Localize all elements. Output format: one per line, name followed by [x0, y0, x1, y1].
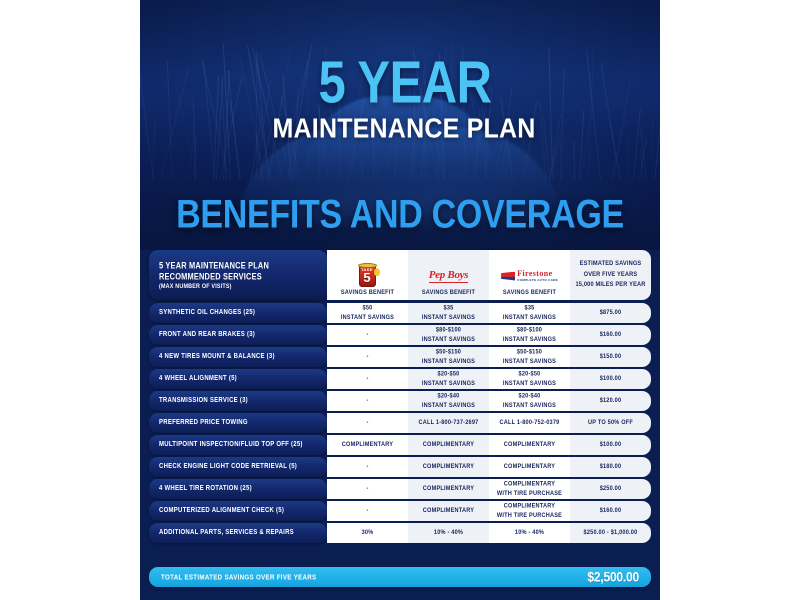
row-cell-estimated: $250.00 [570, 479, 651, 499]
table-row: FRONT AND REAR BRAKES (3)-$80-$100INSTAN… [149, 325, 651, 345]
row-service-text: SYNTHETIC OIL CHANGES (25) [159, 309, 255, 316]
header-estimated-line3: 15,000 MILES PER YEAR [575, 279, 645, 292]
row-cell-text: $50INSTANT SAVINGS [341, 303, 394, 322]
table-header-row: 5 YEAR MAINTENANCE PLAN RECOMMENDED SERV… [149, 250, 651, 300]
row-cell-estimated: $100.00 [570, 435, 651, 455]
row-cell-text: - [366, 352, 368, 362]
row-service-text: FRONT AND REAR BRAKES (3) [159, 331, 255, 338]
row-service-text: TRANSMISSION SERVICE (3) [159, 397, 248, 404]
row-cell-firestone: CALL 1-800-752-0379 [489, 413, 570, 433]
header-brand-pepboys: Pep Boys SAVINGS BENEFIT [408, 250, 489, 300]
table-row: PREFERRED PRICE TOWING-CALL 1-800-737-26… [149, 413, 651, 433]
row-cell-text: $160.00 [600, 330, 622, 340]
row-cell-take5: COMPLIMENTARY [327, 435, 408, 455]
row-cell-estimated: $160.00 [570, 501, 651, 521]
row-cell-text: - [366, 418, 368, 428]
header-estimated-savings-column: ESTIMATED SAVINGS OVER FIVE YEARS 15,000… [570, 250, 651, 300]
page-title: 5 YEAR [140, 56, 660, 111]
row-cell-text: $35INSTANT SAVINGS [422, 303, 475, 322]
table-row: 4 WHEEL ALIGNMENT (5)-$20-$50INSTANT SAV… [149, 369, 651, 389]
header-service-column: 5 YEAR MAINTENANCE PLAN RECOMMENDED SERV… [149, 250, 327, 300]
row-cell-pepboys: COMPLIMENTARY [408, 479, 489, 499]
row-cell-text: $875.00 [600, 308, 622, 318]
row-cell-firestone: $20-$40INSTANT SAVINGS [489, 391, 570, 411]
row-cell-take5: - [327, 325, 408, 345]
row-cell-text: - [366, 462, 368, 472]
row-cell-estimated: $180.00 [570, 457, 651, 477]
row-cell-pepboys: COMPLIMENTARY [408, 435, 489, 455]
row-cell-take5: $50INSTANT SAVINGS [327, 303, 408, 323]
row-service-label: COMPUTERIZED ALIGNMENT CHECK (5) [149, 501, 327, 521]
row-cell-take5: - [327, 413, 408, 433]
row-cell-text: $120.00 [600, 396, 622, 406]
row-cell-text: $20-$40INSTANT SAVINGS [503, 391, 556, 410]
row-cell-pepboys: $20-$40INSTANT SAVINGS [408, 391, 489, 411]
row-cell-text: - [366, 374, 368, 384]
row-cell-firestone: COMPLIMENTARY [489, 457, 570, 477]
table-row: 4 NEW TIRES MOUNT & BALANCE (3)-$50-$150… [149, 347, 651, 367]
row-cell-text: 10% - 40% [515, 528, 544, 538]
pep-boys-logo: Pep Boys [429, 262, 468, 290]
row-cell-text: COMPLIMENTARYWITH TIRE PURCHASE [497, 479, 562, 498]
total-savings-bar: TOTAL ESTIMATED SAVINGS OVER FIVE YEARS … [149, 567, 651, 587]
row-cell-text: - [366, 330, 368, 340]
row-cell-text: - [366, 484, 368, 494]
row-cell-text: $100.00 [600, 440, 622, 450]
table-row: SYNTHETIC OIL CHANGES (25)$50INSTANT SAV… [149, 303, 651, 323]
row-cell-firestone: COMPLIMENTARYWITH TIRE PURCHASE [489, 479, 570, 499]
row-cell-text: $35INSTANT SAVINGS [503, 303, 556, 322]
row-cell-pepboys: $50-$150INSTANT SAVINGS [408, 347, 489, 367]
section-title: BENEFITS AND COVERAGE [140, 195, 660, 234]
row-cell-firestone: $20-$50INSTANT SAVINGS [489, 369, 570, 389]
benefits-table: 5 YEAR MAINTENANCE PLAN RECOMMENDED SERV… [149, 250, 651, 545]
row-cell-pepboys: $35INSTANT SAVINGS [408, 303, 489, 323]
row-cell-text: $80-$100INSTANT SAVINGS [503, 325, 556, 344]
row-cell-text: - [366, 396, 368, 406]
row-service-text: ADDITIONAL PARTS, SERVICES & REPAIRS [159, 529, 294, 536]
row-cell-firestone: COMPLIMENTARYWITH TIRE PURCHASE [489, 501, 570, 521]
row-cell-estimated: $120.00 [570, 391, 651, 411]
row-cell-text: COMPLIMENTARY [423, 506, 474, 516]
row-cell-pepboys: COMPLIMENTARY [408, 501, 489, 521]
row-cell-text: - [366, 506, 368, 516]
row-cell-text: $20-$40INSTANT SAVINGS [422, 391, 475, 410]
row-cell-text: COMPLIMENTARY [342, 440, 393, 450]
row-cell-pepboys: $80-$100INSTANT SAVINGS [408, 325, 489, 345]
row-cell-take5: 30% [327, 523, 408, 543]
table-body: SYNTHETIC OIL CHANGES (25)$50INSTANT SAV… [149, 303, 651, 543]
row-cell-text: $50-$150INSTANT SAVINGS [503, 347, 556, 366]
row-cell-pepboys: CALL 1-800-737-2697 [408, 413, 489, 433]
table-row: TRANSMISSION SERVICE (3)-$20-$40INSTANT … [149, 391, 651, 411]
total-savings-label: TOTAL ESTIMATED SAVINGS OVER FIVE YEARS [161, 573, 316, 581]
row-cell-take5: - [327, 369, 408, 389]
take5-savings-label: SAVINGS BENEFIT [341, 289, 394, 296]
row-cell-take5: - [327, 391, 408, 411]
row-service-text: 4 NEW TIRES MOUNT & BALANCE (3) [159, 353, 275, 360]
row-cell-text: 30% [362, 528, 374, 538]
row-cell-text: COMPLIMENTARY [504, 440, 555, 450]
table-row: CHECK ENGINE LIGHT CODE RETRIEVAL (5)-CO… [149, 457, 651, 477]
row-service-text: MULTIPOINT INSPECTION/FLUID TOP OFF (25) [159, 441, 303, 448]
row-cell-firestone: 10% - 40% [489, 523, 570, 543]
row-cell-text: UP TO 50% OFF [588, 418, 633, 428]
row-cell-estimated: $100.00 [570, 369, 651, 389]
header-service-line2: RECOMMENDED SERVICES [159, 271, 327, 282]
row-cell-text: COMPLIMENTARY [423, 484, 474, 494]
row-cell-text: $50-$150INSTANT SAVINGS [422, 347, 475, 366]
row-cell-estimated: $160.00 [570, 325, 651, 345]
row-cell-text: COMPLIMENTARY [423, 440, 474, 450]
maintenance-plan-poster: 5 YEAR MAINTENANCE PLAN BENEFITS AND COV… [140, 0, 660, 600]
row-service-label: SYNTHETIC OIL CHANGES (25) [149, 303, 327, 323]
row-service-label: 4 WHEEL TIRE ROTATION (25) [149, 479, 327, 499]
row-cell-pepboys: 10% - 40% [408, 523, 489, 543]
page-subtitle: MAINTENANCE PLAN [140, 115, 660, 143]
row-cell-take5: - [327, 457, 408, 477]
row-cell-firestone: $50-$150INSTANT SAVINGS [489, 347, 570, 367]
row-cell-text: $180.00 [600, 462, 622, 472]
row-cell-text: $20-$50INSTANT SAVINGS [503, 369, 556, 388]
row-service-text: PREFERRED PRICE TOWING [159, 419, 248, 426]
row-cell-estimated: $150.00 [570, 347, 651, 367]
row-cell-take5: - [327, 479, 408, 499]
row-service-text: COMPUTERIZED ALIGNMENT CHECK (5) [159, 507, 284, 514]
row-cell-estimated: $250.00 - $1,000.00 [570, 523, 651, 543]
row-cell-text: COMPLIMENTARYWITH TIRE PURCHASE [497, 501, 562, 520]
row-service-label: ADDITIONAL PARTS, SERVICES & REPAIRS [149, 523, 327, 543]
header-service-line1: 5 YEAR MAINTENANCE PLAN [159, 260, 327, 271]
table-row: COMPUTERIZED ALIGNMENT CHECK (5)-COMPLIM… [149, 501, 651, 521]
row-cell-firestone: $35INSTANT SAVINGS [489, 303, 570, 323]
row-service-label: TRANSMISSION SERVICE (3) [149, 391, 327, 411]
header-service-line3: (MAX NUMBER OF VISITS) [159, 283, 327, 290]
row-cell-text: COMPLIMENTARY [423, 462, 474, 472]
row-cell-text: $80-$100INSTANT SAVINGS [422, 325, 475, 344]
table-row: ADDITIONAL PARTS, SERVICES & REPAIRS30%1… [149, 523, 651, 543]
row-service-label: MULTIPOINT INSPECTION/FLUID TOP OFF (25) [149, 435, 327, 455]
row-cell-firestone: COMPLIMENTARY [489, 435, 570, 455]
total-savings-amount: $2,500.00 [587, 569, 639, 585]
row-service-label: 4 WHEEL ALIGNMENT (5) [149, 369, 327, 389]
header-brand-take5: TAKE 5 SAVINGS BENEFIT [327, 250, 408, 300]
row-cell-firestone: $80-$100INSTANT SAVINGS [489, 325, 570, 345]
row-cell-text: $150.00 [600, 352, 622, 362]
row-cell-text: $160.00 [600, 506, 622, 516]
row-service-text: CHECK ENGINE LIGHT CODE RETRIEVAL (5) [159, 463, 297, 470]
take5-logo: TAKE 5 [355, 262, 381, 290]
firestone-logo: Firestone COMPLETE AUTO CARE [501, 262, 558, 290]
row-cell-text: COMPLIMENTARY [504, 462, 555, 472]
row-cell-pepboys: $20-$50INSTANT SAVINGS [408, 369, 489, 389]
row-service-label: 4 NEW TIRES MOUNT & BALANCE (3) [149, 347, 327, 367]
row-service-label: PREFERRED PRICE TOWING [149, 413, 327, 433]
row-cell-estimated: $875.00 [570, 303, 651, 323]
row-cell-take5: - [327, 501, 408, 521]
firestone-savings-label: SAVINGS BENEFIT [503, 289, 556, 296]
row-cell-text: 10% - 40% [434, 528, 463, 538]
row-cell-take5: - [327, 347, 408, 367]
row-service-label: FRONT AND REAR BRAKES (3) [149, 325, 327, 345]
row-service-label: CHECK ENGINE LIGHT CODE RETRIEVAL (5) [149, 457, 327, 477]
row-cell-text: $100.00 [600, 374, 622, 384]
table-row: 4 WHEEL TIRE ROTATION (25)-COMPLIMENTARY… [149, 479, 651, 499]
row-cell-text: $20-$50INSTANT SAVINGS [422, 369, 475, 388]
poster-title-block: 5 YEAR MAINTENANCE PLAN [140, 56, 660, 140]
row-cell-text: CALL 1-800-737-2697 [419, 418, 479, 428]
row-cell-pepboys: COMPLIMENTARY [408, 457, 489, 477]
pepboys-savings-label: SAVINGS BENEFIT [422, 289, 475, 296]
row-service-text: 4 WHEEL TIRE ROTATION (25) [159, 485, 252, 492]
row-cell-text: CALL 1-800-752-0379 [500, 418, 560, 428]
row-service-text: 4 WHEEL ALIGNMENT (5) [159, 375, 237, 382]
row-cell-text: $250.00 [600, 484, 622, 494]
row-cell-text: $250.00 - $1,000.00 [584, 528, 638, 538]
table-row: MULTIPOINT INSPECTION/FLUID TOP OFF (25)… [149, 435, 651, 455]
header-brand-firestone: Firestone COMPLETE AUTO CARE SAVINGS BEN… [489, 250, 570, 300]
row-cell-estimated: UP TO 50% OFF [570, 413, 651, 433]
